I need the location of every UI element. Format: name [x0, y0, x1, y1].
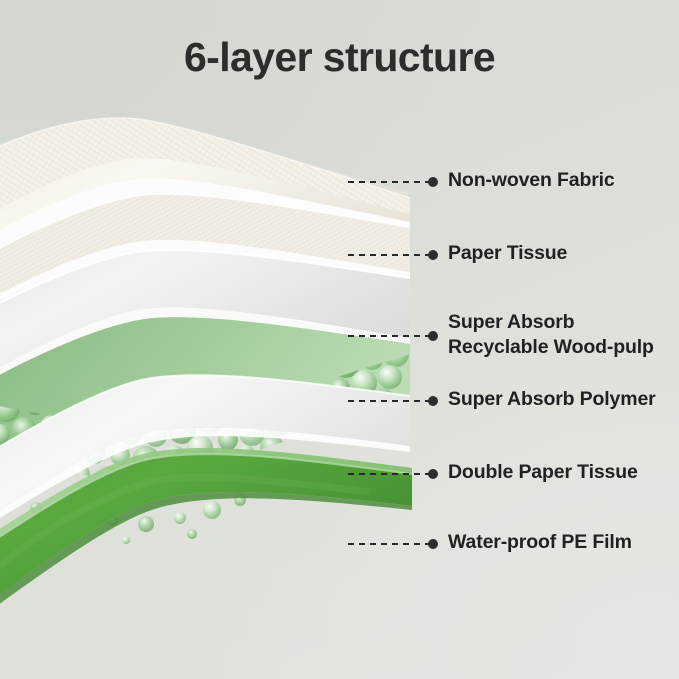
page-title: 6-layer structure — [0, 32, 679, 82]
leader-line-icon — [348, 335, 430, 337]
bullet-dot-icon — [428, 396, 438, 406]
layer-stack-illustration — [0, 96, 420, 656]
bullet-dot-icon — [428, 539, 438, 549]
callout-label: Super Absorb Polymer — [448, 387, 656, 412]
callout-label: Super Absorb Recyclable Wood-pulp — [448, 310, 654, 359]
bullet-dot-icon — [428, 469, 438, 479]
leader-line-icon — [348, 400, 430, 402]
leader-line-icon — [348, 181, 430, 183]
callout-label: Double Paper Tissue — [448, 460, 638, 485]
leader-line-icon — [348, 473, 430, 475]
leader-line-icon — [348, 254, 430, 256]
leader-line-icon — [348, 543, 430, 545]
callout-label: Non-woven Fabric — [448, 168, 615, 193]
callout-label: Paper Tissue — [448, 241, 567, 266]
product-layer-infographic: 6-layer structure — [0, 0, 679, 679]
bullet-dot-icon — [428, 177, 438, 187]
callout-label: Water-proof PE Film — [448, 530, 632, 555]
bullet-dot-icon — [428, 331, 438, 341]
bullet-dot-icon — [428, 250, 438, 260]
